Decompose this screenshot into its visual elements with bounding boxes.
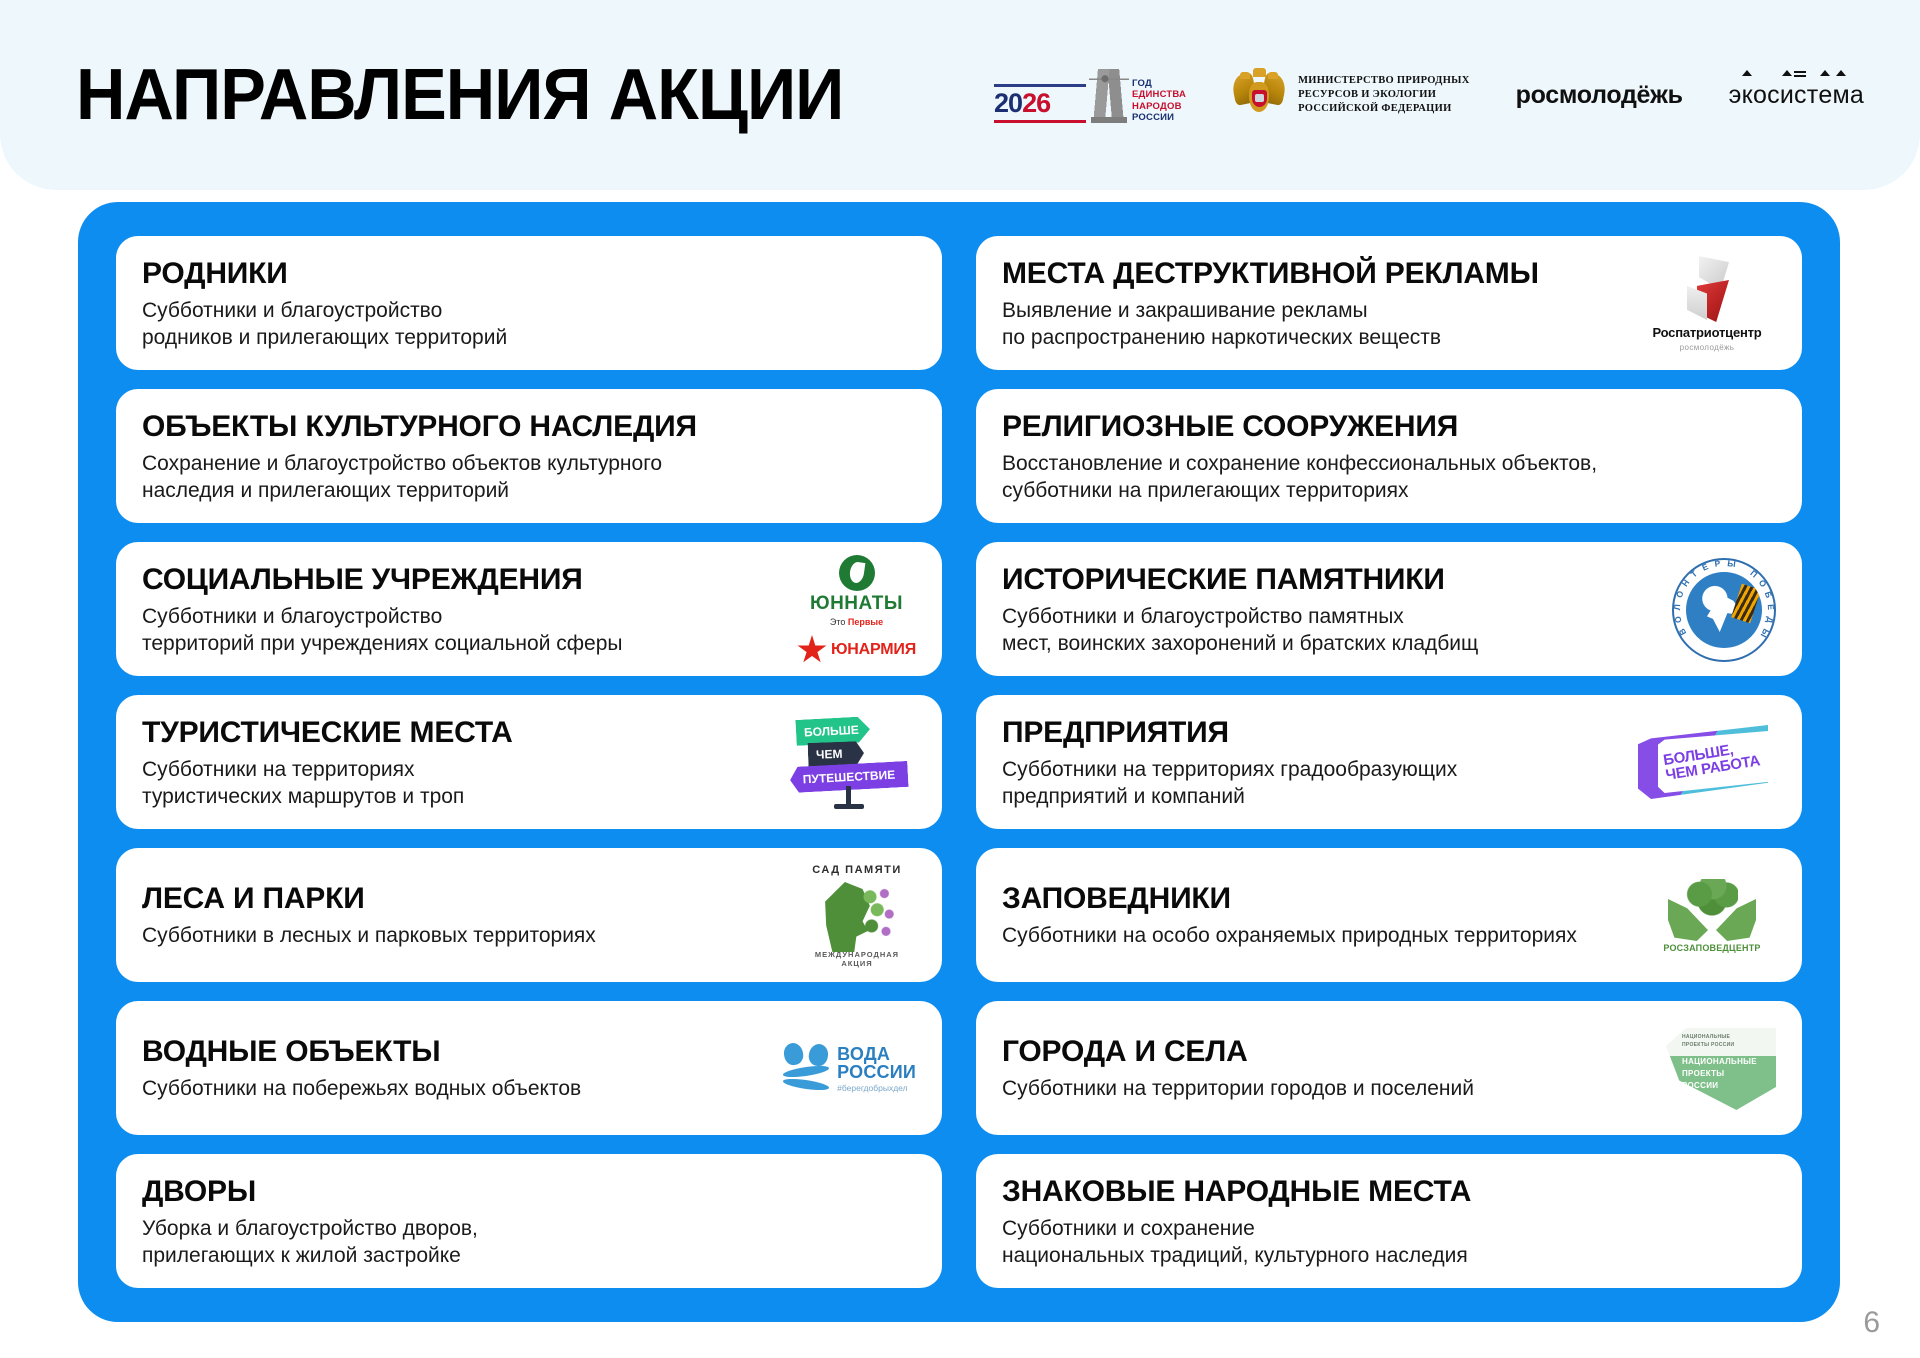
yunnaty-name: ЮННАТЫ [810,593,903,615]
card-logo: БОЛЬШЕ,ЧЕМ РАБОТА [1634,717,1776,809]
ministry-of-natural-resources-logo: МИНИСТЕРСТВО ПРИРОДНЫХ РЕСУРСОВ И ЭКОЛОГ… [1232,66,1470,124]
card-text: МЕСТА ДЕСТРУКТИВНОЙ РЕКЛАМЫ Выявление и … [1002,257,1539,351]
card-title: ОБЪЕКТЫ КУЛЬТУРНОГО НАСЛЕДИЯ [142,410,697,443]
card-description: Субботники и благоустройство памятных ме… [1002,604,1478,657]
voda-line1: ВОДА [837,1045,916,1063]
card-title: РОДНИКИ [142,257,507,290]
card-text: РЕЛИГИОЗНЫЕ СООРУЖЕНИЯ Восстановление и … [1002,410,1597,504]
voda-line2: РОССИИ [837,1063,916,1081]
rospatriotcentr-logo: Роспатриотцентр росмолодёжь [1638,256,1776,352]
header-logo-row: 2026 ГОД ЕДИНСТВА НАРОДОВ РОССИИ [994,66,1864,124]
card-text: РОДНИКИ Субботники и благоустройство род… [142,257,507,351]
card-title: ЛЕСА И ПАРКИ [142,882,596,915]
direction-card-rodniki[interactable]: РОДНИКИ Субботники и благоустройство род… [116,236,942,370]
double-headed-eagle-icon [1232,66,1286,124]
card-description: Субботники на побережьях водных объектов [142,1076,581,1102]
yunnaty-logo: ЮННАТЫ Это Первые [810,555,903,627]
card-logo: ЮННАТЫ Это Первые ЮНАРМИЯ [797,555,916,665]
ministry-text: МИНИСТЕРСТВО ПРИРОДНЫХ РЕСУРСОВ И ЭКОЛОГ… [1298,74,1470,117]
direction-card-socialnye-uchrezhdeniya[interactable]: СОЦИАЛЬНЫЕ УЧРЕЖДЕНИЯ Субботники и благо… [116,542,942,676]
water-drops-icon [783,1043,829,1095]
card-text: ОБЪЕКТЫ КУЛЬТУРНОГО НАСЛЕДИЯ Сохранение … [142,410,697,504]
card-text: ЗНАКОВЫЕ НАРОДНЫЕ МЕСТА Субботники и сох… [1002,1175,1471,1269]
direction-card-turisticheskie-mesta[interactable]: ТУРИСТИЧЕСКИЕ МЕСТА Субботники на террит… [116,695,942,829]
rule-blue [994,84,1086,87]
directions-panel: РОДНИКИ Субботники и благоустройство род… [78,202,1840,1322]
card-title: ЗНАКОВЫЕ НАРОДНЫЕ МЕСТА [1002,1175,1471,1208]
card-title: РЕЛИГИОЗНЫЕ СООРУЖЕНИЯ [1002,410,1597,443]
card-logo: САД ПАМЯТИ МЕЖДУНАРОДНАЯ АКЦИЯ [798,864,916,968]
card-description: Субботники на территории городов и посел… [1002,1076,1474,1102]
year-2026-number: 2026 [994,91,1086,117]
card-title: СОЦИАЛЬНЫЕ УЧРЕЖДЕНИЯ [142,563,623,596]
direction-card-istoricheskie-pamyatniki[interactable]: ИСТОРИЧЕСКИЕ ПАМЯТНИКИ Субботники и благ… [976,542,1802,676]
year-prefix: 20 [994,88,1022,118]
signpost-pole [846,786,851,806]
card-description: Субботники и благоустройство родников и … [142,298,507,351]
ministry-line2: РЕСУРСОВ И ЭКОЛОГИИ [1298,88,1470,102]
year-2026-line1: ГОД [1132,79,1186,89]
ribbon-icon [1681,256,1733,322]
card-description: Субботники на территориях градообразующи… [1002,757,1457,810]
slide: НАПРАВЛЕНИЯ АКЦИИ 2026 ГОД ЕДИНСТВА [0,0,1920,1358]
page-number: 6 [1863,1306,1880,1340]
card-description: Субботники на особо охраняемых природных… [1002,923,1577,949]
yunnaty-yunarmiya-logos: ЮННАТЫ Это Первые ЮНАРМИЯ [797,555,916,665]
ministry-line1: МИНИСТЕРСТВО ПРИРОДНЫХ [1298,74,1470,88]
rospatriotcentr-name: Роспатриотцентр [1652,325,1761,340]
direction-card-vodnye-obekty[interactable]: ВОДНЫЕ ОБЪЕКТЫ Субботники на побережьях … [116,1001,942,1135]
direction-card-zapovedniki[interactable]: ЗАПОВЕДНИКИ Субботники на особо охраняем… [976,848,1802,982]
card-description: Восстановление и сохранение конфессионал… [1002,451,1597,504]
star-icon [797,635,827,665]
card-description: Субботники на территориях туристических … [142,757,513,810]
sign-chem: ЧЕМ [808,741,865,767]
card-description: Субботники и сохранение национальных тра… [1002,1216,1471,1269]
sign-bolshe: БОЛЬШЕ [795,716,870,746]
rule-red [994,120,1086,123]
card-text: ГОРОДА И СЕЛА Субботники на территории г… [1002,1035,1474,1102]
card-logo: БОЛЬШЕ ЧЕМ ПУТЕШЕСТВИЕ [788,716,916,810]
hands-tree-icon [1666,879,1758,941]
card-title: ТУРИСТИЧЕСКИЕ МЕСТА [142,716,513,749]
card-description: Выявление и закрашивание рекламы по расп… [1002,298,1539,351]
card-title: ДВОРЫ [142,1175,478,1208]
roszapovedcentr-logo: РОСЗАПОВЕДЦЕНТР [1648,879,1776,953]
volontery-pobedy-name: ВОЛОНТЁРЫ ПОБЕДЫ [1673,559,1775,661]
card-description: Субботники и благоустройство территорий … [142,604,623,657]
nacproekty-name: НАЦИОНАЛЬНЫЕПРОЕКТЫРОССИИ [1682,1056,1757,1092]
direction-card-predpriyatiya[interactable]: ПРЕДПРИЯТИЯ Субботники на территориях гр… [976,695,1802,829]
sad-pamyati-subtext: МЕЖДУНАРОДНАЯ АКЦИЯ [798,950,916,968]
direction-card-dvory[interactable]: ДВОРЫ Уборка и благоустройство дворов, п… [116,1154,942,1288]
bolshe-chem-puteshestvie-logo: БОЛЬШЕ ЧЕМ ПУТЕШЕСТВИЕ [788,716,916,810]
voda-rossii-logo: ВОДА РОССИИ #берегдобрыхдел [783,1043,916,1095]
yunnaty-subtext: Это Первые [830,617,883,627]
header-band: НАПРАВЛЕНИЯ АКЦИИ 2026 ГОД ЕДИНСТВА [0,0,1920,190]
card-logo: НАЦИОНАЛЬНЫЕПРОЕКТЫ РОССИИ НАЦИОНАЛЬНЫЕП… [1666,1028,1776,1110]
year-2026-line2: ЕДИНСТВА [1132,90,1186,100]
card-title: ПРЕДПРИЯТИЯ [1002,716,1457,749]
year-2026-logo: 2026 ГОД ЕДИНСТВА НАРОДОВ РОССИИ [994,67,1186,123]
card-description: Сохранение и благоустройство объектов ку… [142,451,697,504]
card-logo: ВОЛОНТЁРЫ ПОБЕДЫ [1672,558,1776,662]
direction-card-mesta-destruktivnoy-reklamy[interactable]: МЕСТА ДЕСТРУКТИВНОЙ РЕКЛАМЫ Выявление и … [976,236,1802,370]
card-description: Уборка и благоустройство дворов, прилега… [142,1216,478,1269]
signpost-base [834,804,864,809]
yunarmiya-logo: ЮНАРМИЯ [797,635,916,665]
ministry-line3: РОССИЙСКОЙ ФЕДЕРАЦИИ [1298,102,1470,116]
card-title: ИСТОРИЧЕСКИЕ ПАМЯТНИКИ [1002,563,1478,596]
card-description: Субботники в лесных и парковых территори… [142,923,596,949]
directions-grid: РОДНИКИ Субботники и благоустройство род… [116,236,1802,1288]
rosmolodezh-logo: росмолодёжь [1516,81,1683,110]
card-text: СОЦИАЛЬНЫЕ УЧРЕЖДЕНИЯ Субботники и благо… [142,563,623,657]
yunarmiya-name: ЮНАРМИЯ [831,641,916,659]
direction-card-znakovye-narodnye-mesta[interactable]: ЗНАКОВЫЕ НАРОДНЫЕ МЕСТА Субботники и сох… [976,1154,1802,1288]
card-text: ИСТОРИЧЕСКИЕ ПАМЯТНИКИ Субботники и благ… [1002,563,1478,657]
card-text: ПРЕДПРИЯТИЯ Субботники на территориях гр… [1002,716,1457,810]
sad-pamyati-logo: САД ПАМЯТИ МЕЖДУНАРОДНАЯ АКЦИЯ [798,864,916,968]
year-suffix: 26 [1022,88,1050,118]
rospatriotcentr-subtext: росмолодёжь [1680,343,1735,352]
card-title: ЗАПОВЕДНИКИ [1002,882,1577,915]
card-title: ВОДНЫЕ ОБЪЕКТЫ [142,1035,581,1068]
direction-card-goroda-i-sela[interactable]: ГОРОДА И СЕЛА Субботники на территории г… [976,1001,1802,1135]
direction-card-obekty-kulturnogo-naslediya[interactable]: ОБЪЕКТЫ КУЛЬТУРНОГО НАСЛЕДИЯ Сохранение … [116,389,942,523]
card-logo: Роспатриотцентр росмолодёжь [1638,256,1776,352]
card-title: МЕСТА ДЕСТРУКТИВНОЙ РЕКЛАМЫ [1002,257,1539,290]
header-inner: НАПРАВЛЕНИЯ АКЦИИ 2026 ГОД ЕДИНСТВА [0,0,1920,190]
card-title: ГОРОДА И СЕЛА [1002,1035,1474,1068]
bolshe-chem-rabota-logo: БОЛЬШЕ,ЧЕМ РАБОТА [1634,717,1776,809]
card-logo: ВОДА РОССИИ #берегдобрыхдел [783,1043,916,1095]
ecosystem-logo: экосистема [1729,81,1864,110]
voda-hashtag: #берегдобрыхдел [837,1084,916,1093]
card-text: ДВОРЫ Уборка и благоустройство дворов, п… [142,1175,478,1269]
nacionalnye-proekty-rossii-logo: НАЦИОНАЛЬНЫЕПРОЕКТЫ РОССИИ НАЦИОНАЛЬНЫЕП… [1666,1028,1776,1110]
year-2026-line4: РОССИИ [1132,113,1186,123]
year-2026-line3: НАРОДОВ [1132,102,1186,112]
direction-card-lesa-i-parki[interactable]: ЛЕСА И ПАРКИ Субботники в лесных и парко… [116,848,942,982]
leaves-icon [858,886,898,940]
card-text: ЛЕСА И ПАРКИ Субботники в лесных и парко… [142,882,596,949]
monument-icon [1089,69,1129,123]
volontery-pobedy-logo: ВОЛОНТЁРЫ ПОБЕДЫ [1672,558,1776,662]
sad-pamyati-name: САД ПАМЯТИ [798,864,916,876]
card-text: ТУРИСТИЧЕСКИЕ МЕСТА Субботники на террит… [142,716,513,810]
nacproekty-small: НАЦИОНАЛЬНЫЕПРОЕКТЫ РОССИИ [1682,1034,1734,1049]
card-text: ЗАПОВЕДНИКИ Субботники на особо охраняем… [1002,882,1577,949]
card-logo: РОСЗАПОВЕДЦЕНТР [1648,879,1776,953]
leaf-icon [839,555,875,591]
roszapovedcentr-name: РОСЗАПОВЕДЦЕНТР [1663,943,1760,953]
page-title: НАПРАВЛЕНИЯ АКЦИИ [76,59,843,131]
card-text: ВОДНЫЕ ОБЪЕКТЫ Субботники на побережьях … [142,1035,581,1102]
direction-card-religioznye-sooruzheniya[interactable]: РЕЛИГИОЗНЫЕ СООРУЖЕНИЯ Восстановление и … [976,389,1802,523]
